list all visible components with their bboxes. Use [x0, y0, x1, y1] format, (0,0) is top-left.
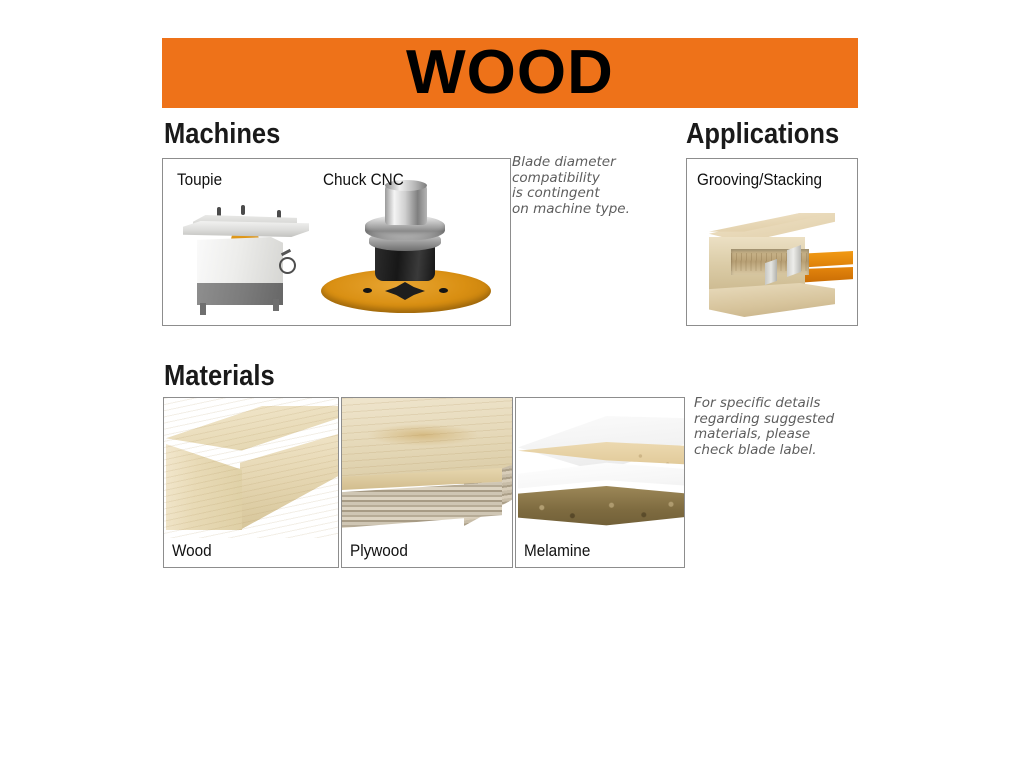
machine-label-toupie: Toupie [177, 171, 222, 188]
toupie-leg-left [200, 303, 206, 315]
toupie-cabinet [197, 237, 283, 285]
saw-blade-pin-hole-right [439, 288, 448, 293]
plywood-ply-layers [342, 482, 502, 528]
machine-label-chuck-cnc: Chuck CNC [323, 171, 404, 188]
material-panel-plywood: Plywood [341, 397, 513, 568]
machines-note: Blade diameter compatibility is continge… [512, 155, 672, 217]
material-panel-wood: Wood [163, 397, 339, 568]
wood-chip-small [765, 259, 777, 285]
section-heading-applications: Applications [686, 120, 839, 149]
applications-panel: Grooving/Stacking [686, 158, 858, 326]
application-label-grooving-stacking: Grooving/Stacking [697, 171, 822, 188]
toupie-handwheel [279, 257, 296, 274]
toupie-knob-2 [241, 205, 245, 215]
toupie-table [183, 221, 309, 237]
melamine-lower-core-texture [518, 486, 685, 534]
saw-blade-pin-hole-left [363, 288, 372, 293]
machines-panel: Toupie Chuck CNC [162, 158, 511, 326]
toupie-leg-right [273, 299, 279, 311]
material-panel-melamine: Melamine [515, 397, 685, 568]
header-bar: WOOD [162, 38, 858, 108]
page-title: WOOD [406, 42, 614, 104]
grooved-wood-block-icon [691, 203, 857, 321]
wood-spec-sheet: WOOD Machines Applications Toupie Chuck … [0, 0, 1024, 768]
section-heading-materials: Materials [164, 362, 275, 391]
section-heading-machines: Machines [164, 120, 280, 149]
chuck-shank [385, 185, 427, 225]
cnc-chuck-saw-blade-icon [313, 177, 499, 317]
spindle-moulder-icon [181, 195, 311, 317]
material-label-wood: Wood [172, 542, 212, 559]
toupie-base [197, 283, 283, 305]
block-bottom-face [709, 283, 835, 317]
wood-grain-texture [164, 398, 339, 538]
material-label-plywood: Plywood [350, 542, 408, 559]
material-label-melamine: Melamine [524, 542, 590, 559]
wood-chip-large [787, 245, 801, 277]
materials-note: For specific details regarding suggested… [694, 396, 859, 458]
